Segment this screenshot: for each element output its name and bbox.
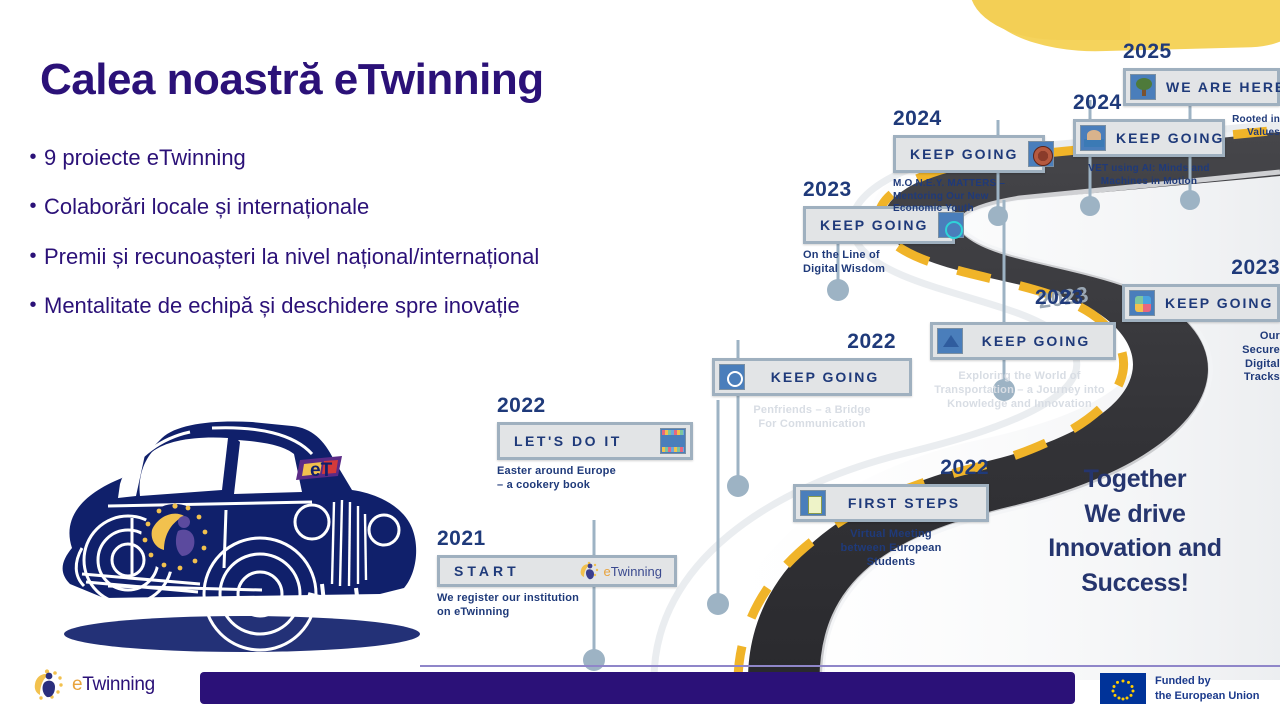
milestone-first-steps-2022[interactable]: 2022 FIRST STEPS Virtual Meeting between… bbox=[793, 456, 989, 569]
wordmark-e: e bbox=[72, 674, 82, 695]
milestone-keep-going-money-matters-2024[interactable]: 2024 KEEP GOING M.O.N.E.Y. MATTERS – Men… bbox=[893, 107, 1045, 216]
milestone-label: LET'S DO IT bbox=[504, 431, 660, 451]
milestone-description: Virtual Meeting between European Student… bbox=[793, 528, 989, 569]
wordmark-rest: Twinning bbox=[82, 674, 155, 695]
svg-text:eT: eT bbox=[310, 460, 333, 481]
eu-funding-line-2: the European Union bbox=[1155, 689, 1260, 703]
milestone-year: 2025 bbox=[1123, 40, 1280, 64]
milestone-label: FIRST STEPS bbox=[826, 493, 982, 513]
tagline-line-3: Innovation and bbox=[1000, 531, 1270, 566]
milestone-we-are-here-2025[interactable]: 2025 WE ARE HERE Rooted in Values bbox=[1123, 40, 1280, 139]
milestone-year: 2023 bbox=[1122, 256, 1280, 280]
eu-funding-text: Funded by the European Union bbox=[1155, 674, 1260, 703]
milestone-year: 2022 bbox=[712, 330, 912, 354]
milestone-label: KEEP GOING bbox=[963, 331, 1109, 351]
milestone-plate[interactable]: KEEP GOING bbox=[1122, 284, 1280, 322]
bullet-dot-icon: • bbox=[22, 194, 44, 218]
milestone-description: Our Secure Digital Tracks bbox=[1122, 330, 1280, 385]
milestone-year: 2022 bbox=[497, 394, 693, 418]
milestone-description: VET using AI: Minds and Machines in Moti… bbox=[1073, 163, 1225, 188]
milestone-label: KEEP GOING bbox=[1155, 293, 1280, 313]
tagline-line-4: Success! bbox=[1000, 566, 1270, 601]
milestone-keep-going-transportation-2023[interactable]: KEEP GOING Exploring the World of Transp… bbox=[930, 322, 1116, 411]
tagline-line-2: We drive bbox=[1000, 497, 1270, 532]
digital-wisdom-icon bbox=[938, 212, 964, 238]
milestone-description: Exploring the World of Transportation – … bbox=[912, 370, 1127, 411]
milestone-label: WE ARE HERE bbox=[1156, 77, 1280, 97]
milestone-plate[interactable]: WE ARE HERE bbox=[1123, 68, 1280, 106]
milestone-description: Easter around Europe – a cookery book bbox=[497, 465, 693, 493]
milestone-plate[interactable]: KEEP GOING bbox=[893, 135, 1045, 173]
etwinning-footer-logo: eTwinning bbox=[30, 668, 155, 702]
milestone-year: 2022 bbox=[793, 456, 989, 480]
secure-tracks-icon bbox=[1129, 290, 1155, 316]
easter-cookery-book-icon bbox=[660, 428, 686, 454]
milestone-year: 2023 bbox=[1035, 286, 1084, 310]
milestone-keep-going-penfriends-2022[interactable]: 2022 KEEP GOING Penfriends – a Bridge Fo… bbox=[712, 330, 912, 432]
transportation-icon bbox=[937, 328, 963, 354]
milestone-description: M.O.N.E.Y. MATTERS – Mentoring Our New E… bbox=[893, 178, 1045, 216]
etwinning-wordmark: eTwinning bbox=[72, 674, 155, 696]
bullet-dot-icon: • bbox=[22, 293, 44, 317]
vintage-car-illustration: eT bbox=[12, 398, 432, 670]
milestone-description: Rooted in Values bbox=[1123, 114, 1280, 139]
milestone-label: KEEP GOING bbox=[745, 367, 905, 387]
bullet-dot-icon: • bbox=[22, 244, 44, 268]
milestone-label: START bbox=[444, 561, 578, 581]
footer-accent-bar bbox=[200, 672, 1075, 704]
money-matters-icon bbox=[1028, 141, 1054, 167]
etwinning-logo-icon: eTwinning bbox=[578, 561, 670, 581]
milestone-year: 2021 bbox=[437, 527, 677, 551]
tagline-line-1: Together bbox=[1000, 462, 1270, 497]
tagline-block: Together We drive Innovation and Success… bbox=[1000, 462, 1270, 600]
milestone-plate[interactable]: KEEP GOING bbox=[930, 322, 1116, 360]
bullet-dot-icon: • bbox=[22, 145, 44, 169]
penfriends-icon bbox=[719, 364, 745, 390]
eu-funding-line-1: Funded by bbox=[1155, 674, 1260, 688]
milestone-start-2021[interactable]: 2021 START eTwinning We register our ins… bbox=[437, 527, 677, 620]
slide-canvas: Calea noastră eTwinning • 9 proiecte eTw… bbox=[0, 0, 1280, 720]
milestone-plate[interactable]: LET'S DO IT bbox=[497, 422, 693, 460]
milestone-label: KEEP GOING bbox=[810, 215, 938, 235]
eu-flag-icon bbox=[1100, 673, 1146, 704]
milestone-transportation-year-2023: 2023 bbox=[1035, 286, 1084, 314]
milestone-lets-do-it-2022[interactable]: 2022 LET'S DO IT Easter around Europe – … bbox=[497, 394, 693, 493]
footer-divider bbox=[420, 665, 1280, 667]
vet-ai-icon bbox=[1080, 125, 1106, 151]
milestone-description: On the Line of Digital Wisdom bbox=[803, 249, 955, 277]
etwinning-logo-icon bbox=[30, 668, 66, 702]
milestone-keep-going-secure-tracks-2023[interactable]: 2023 KEEP GOING Our Secure Digital Track… bbox=[1122, 256, 1280, 385]
tree-icon bbox=[1130, 74, 1156, 100]
milestone-year: 2024 bbox=[893, 107, 1045, 131]
milestone-description: We register our institution on eTwinning bbox=[437, 592, 677, 620]
milestone-plate[interactable]: START eTwinning bbox=[437, 555, 677, 587]
milestone-plate[interactable]: KEEP GOING bbox=[712, 358, 912, 396]
milestone-description: Penfriends – a Bridge For Communication bbox=[712, 404, 912, 432]
virtual-meeting-icon bbox=[800, 490, 826, 516]
milestone-label: KEEP GOING bbox=[900, 144, 1028, 164]
milestone-plate[interactable]: FIRST STEPS bbox=[793, 484, 989, 522]
eu-funding-badge: Funded by the European Union bbox=[1100, 673, 1260, 704]
